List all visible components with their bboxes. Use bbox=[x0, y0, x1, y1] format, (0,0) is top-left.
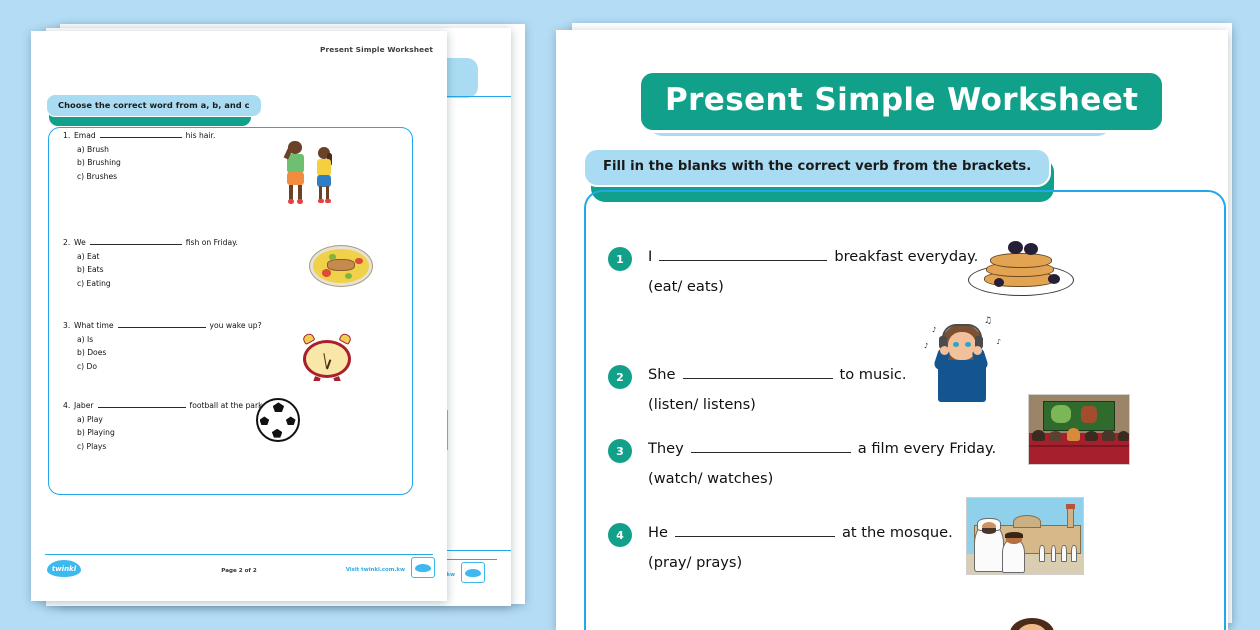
q4-badge: 4 bbox=[608, 523, 632, 547]
left-image-boy-girl bbox=[281, 137, 349, 209]
q1-number: 1. bbox=[63, 132, 74, 140]
q4-option-c[interactable]: c) Plays bbox=[77, 443, 265, 451]
r-q4-blank[interactable] bbox=[675, 524, 835, 537]
left-question-1: 1. Emad his hair. a) Brush b) Brushing c… bbox=[63, 130, 215, 181]
r-q3-before: They bbox=[648, 440, 684, 457]
q2-option-b[interactable]: b) Eats bbox=[77, 266, 238, 274]
r-q1-blank[interactable] bbox=[659, 248, 827, 261]
right-image-mosque bbox=[966, 497, 1084, 575]
q4-after: football at the park. bbox=[190, 402, 265, 410]
r-q1-after: breakfast everyday. bbox=[834, 248, 978, 265]
twinkl-stamp-icon-3 bbox=[411, 557, 435, 578]
q1-option-a[interactable]: a) Brush bbox=[77, 146, 215, 154]
q1-option-b[interactable]: b) Brushing bbox=[77, 159, 215, 167]
q2-badge: 2 bbox=[608, 365, 632, 389]
right-image-cinema bbox=[1028, 394, 1130, 465]
left-worksheet-page[interactable]: Present Simple Worksheet Choose the corr… bbox=[31, 31, 447, 601]
q3-option-b[interactable]: b) Does bbox=[77, 349, 262, 357]
r-q4-before: He bbox=[648, 524, 668, 541]
left-image-football bbox=[256, 398, 300, 442]
left-footer: twinkl Page 2 of 2 Visit twinkl.com.kw bbox=[31, 555, 447, 579]
q2-number: 2. bbox=[63, 239, 74, 247]
twinkl-stamp-icon-2 bbox=[461, 562, 485, 583]
left-instruction-text: Choose the correct word from a, b, and c bbox=[46, 94, 262, 117]
left-question-2: 2. We fish on Friday. a) Eat b) Eats c) … bbox=[63, 237, 238, 288]
q2-option-a[interactable]: a) Eat bbox=[77, 253, 238, 261]
q4-option-b[interactable]: b) Playing bbox=[77, 429, 265, 437]
left-question-4: 4. Jaber football at the park. a) Play b… bbox=[63, 400, 265, 451]
r-q3-after: a film every Friday. bbox=[858, 440, 996, 457]
left-page-header: Present Simple Worksheet bbox=[320, 45, 433, 54]
visit-link[interactable]: Visit twinkl.com.kw bbox=[346, 567, 405, 573]
right-image-pancakes bbox=[964, 238, 1084, 300]
q3-before: What time bbox=[74, 322, 114, 330]
q4-option-a[interactable]: a) Play bbox=[77, 416, 265, 424]
q4-blank[interactable] bbox=[98, 400, 186, 408]
q2-option-c[interactable]: c) Eating bbox=[77, 280, 238, 288]
q3-number: 3. bbox=[63, 322, 74, 330]
right-question-1: 1 I breakfast everyday. (eat/ eats) bbox=[608, 248, 978, 295]
q1-after: his hair. bbox=[186, 132, 216, 140]
q2-before: We bbox=[74, 239, 86, 247]
r-q3-brackets: (watch/ watches) bbox=[648, 470, 996, 487]
right-instruction-banner: Fill in the blanks with the correct verb… bbox=[583, 148, 1051, 187]
q3-option-c[interactable]: c) Do bbox=[77, 363, 262, 371]
r-q4-after: at the mosque. bbox=[842, 524, 953, 541]
r-q1-brackets: (eat/ eats) bbox=[648, 278, 978, 295]
r-q2-before: She bbox=[648, 366, 676, 383]
right-image-girl-headphones: ♪ ♪ ♫ ♪ bbox=[918, 308, 1004, 404]
right-worksheet-page[interactable]: Present Simple Worksheet Fill in the bla… bbox=[556, 30, 1228, 630]
q1-blank[interactable] bbox=[100, 130, 182, 138]
r-q4-brackets: (pray/ prays) bbox=[648, 554, 953, 571]
q4-number: 4. bbox=[63, 402, 74, 410]
r-q2-after: to music. bbox=[840, 366, 907, 383]
r-q3-blank[interactable] bbox=[691, 440, 851, 453]
q3-after: you wake up? bbox=[210, 322, 262, 330]
worksheet-title: Present Simple Worksheet bbox=[638, 70, 1165, 133]
q3-badge: 3 bbox=[608, 439, 632, 463]
right-question-2: 2 She to music. (listen/ listens) bbox=[608, 366, 907, 413]
right-question-4: 4 He at the mosque. (pray/ prays) bbox=[608, 524, 953, 571]
r-q2-blank[interactable] bbox=[683, 366, 833, 379]
r-q2-brackets: (listen/ listens) bbox=[648, 396, 907, 413]
q2-after: fish on Friday. bbox=[186, 239, 238, 247]
q1-before: Emad bbox=[74, 132, 96, 140]
left-image-alarm-clock bbox=[303, 333, 351, 381]
right-image-brushing-teeth bbox=[996, 618, 1066, 630]
left-question-3: 3. What time you wake up? a) Is b) Does … bbox=[63, 320, 262, 371]
q4-before: Jaber bbox=[74, 402, 94, 410]
right-instruction-text: Fill in the blanks with the correct verb… bbox=[583, 148, 1051, 187]
q1-badge: 1 bbox=[608, 247, 632, 271]
r-q1-before: I bbox=[648, 248, 652, 265]
worksheet-preview-canvas: Visit twinkl.com.kw t ) bbox=[0, 0, 1260, 630]
q1-option-c[interactable]: c) Brushes bbox=[77, 173, 215, 181]
right-question-3: 3 They a film every Friday. (watch/ watc… bbox=[608, 440, 996, 487]
left-instruction-banner: Choose the correct word from a, b, and c bbox=[46, 93, 262, 117]
left-image-fish-rice bbox=[309, 245, 373, 287]
worksheet-title-text: Present Simple Worksheet bbox=[638, 70, 1165, 133]
q2-blank[interactable] bbox=[90, 237, 182, 245]
q3-option-a[interactable]: a) Is bbox=[77, 336, 262, 344]
q3-blank[interactable] bbox=[118, 320, 206, 328]
